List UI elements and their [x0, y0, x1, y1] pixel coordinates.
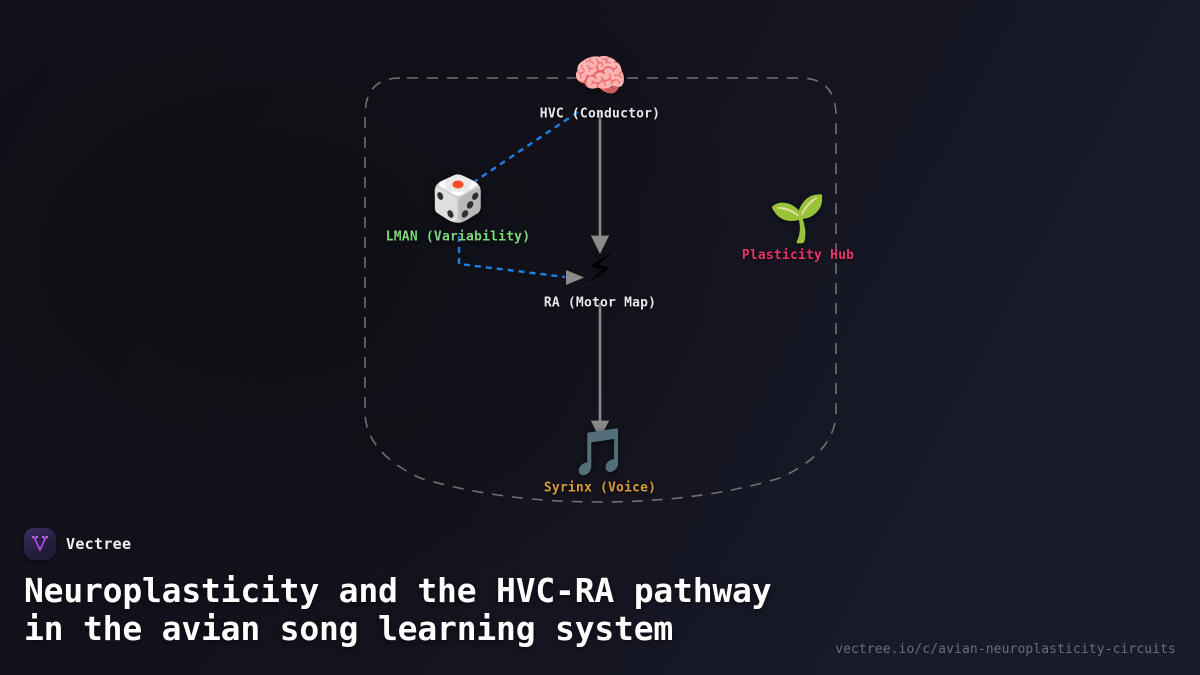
lightning-bolt-icon: ⚡: [586, 244, 614, 290]
diagram-node-label-lman: LMAN (Variability): [386, 230, 530, 245]
dice-icon: 🎲: [431, 178, 486, 222]
diagram-node-plasticity-hub[interactable]: 🌱 Plasticity Hub: [742, 195, 854, 263]
diagram-node-label-hvc: HVC (Conductor): [540, 107, 660, 122]
diagram-node-lman[interactable]: 🎲 LMAN (Variability): [386, 178, 530, 245]
screenshot-root: 🧠 HVC (Conductor) 🎲 LMAN (Variability) ⚡…: [0, 0, 1200, 675]
diagram-node-hvc[interactable]: 🧠 HVC (Conductor): [540, 55, 660, 122]
brand-name: Vectree: [66, 535, 131, 553]
diagram-canvas: 🧠 HVC (Conductor) 🎲 LMAN (Variability) ⚡…: [0, 0, 1200, 540]
diagram-node-ra[interactable]: ⚡ RA (Motor Map): [544, 244, 656, 311]
brain-icon: 🧠: [573, 55, 628, 99]
footer: Vectree Neuroplasticity and the HVC-RA p…: [0, 510, 1200, 675]
diagram-node-syrinx[interactable]: 🎵 Syrinx (Voice): [544, 429, 656, 496]
footer-url: vectree.io/c/avian-neuroplasticity-circu…: [835, 642, 1176, 657]
diagram-node-label-syrinx: Syrinx (Voice): [544, 481, 656, 496]
music-note-icon: 🎵: [571, 429, 628, 475]
diagram-node-label-ra: RA (Motor Map): [544, 296, 656, 311]
seedling-icon: 🌱: [769, 195, 826, 241]
vectree-logo-icon: [24, 528, 56, 560]
page-title: Neuroplasticity and the HVC-RA pathway i…: [24, 572, 824, 647]
diagram-node-label-plasticity-hub: Plasticity Hub: [742, 248, 854, 263]
brand[interactable]: Vectree: [24, 528, 1176, 560]
